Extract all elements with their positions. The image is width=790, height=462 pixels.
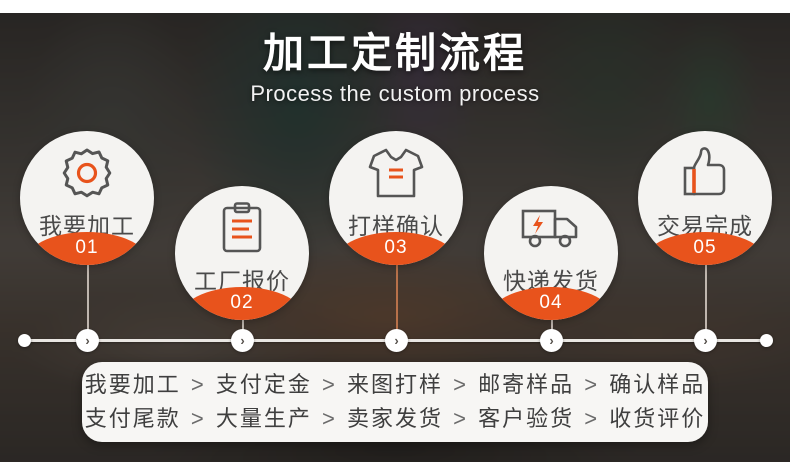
flow-separator: > (582, 372, 601, 397)
flow-item: 邮寄样品 (478, 372, 574, 397)
timeline-arrow-4: › (540, 329, 563, 352)
timeline-arrow-2: › (231, 329, 254, 352)
flow-summary-box: 我要加工 > 支付定金 > 来图打样 > 邮寄样品 > 确认样品 支付尾款 > … (82, 362, 708, 442)
flow-separator: > (451, 372, 470, 397)
flow-item: 确认样品 (609, 372, 705, 397)
timeline-arrow-1: › (76, 329, 99, 352)
stem-step-5 (705, 258, 707, 332)
flow-item: 卖家发货 (347, 406, 443, 431)
flow-separator: > (320, 406, 339, 431)
flow-separator: > (189, 372, 208, 397)
timeline-end-dot (760, 334, 773, 347)
process-banner: 加工定制流程 Process the custom process › › › … (0, 0, 790, 462)
flow-item: 我要加工 (85, 372, 181, 397)
stem-step-3 (396, 258, 398, 332)
flow-row-1: 我要加工 > 支付定金 > 来图打样 > 邮寄样品 > 确认样品 (85, 368, 706, 402)
step-circle-4[interactable]: 快递发货 04 (484, 186, 618, 320)
flow-item: 来图打样 (347, 372, 443, 397)
page-title: 加工定制流程 (0, 30, 790, 77)
top-white-strip (0, 0, 790, 13)
step-circle-5[interactable]: 交易完成 05 (638, 131, 772, 265)
timeline-start-dot (18, 334, 31, 347)
clipboard-icon (217, 200, 267, 256)
flow-separator: > (320, 372, 339, 397)
gear-flower-icon (61, 145, 113, 201)
step-circle-2[interactable]: 工厂报价 02 (175, 186, 309, 320)
flow-item: 支付定金 (216, 372, 312, 397)
flow-separator: > (582, 406, 601, 431)
step-circle-3[interactable]: 打样确认 03 (329, 131, 463, 265)
banner-header: 加工定制流程 Process the custom process (0, 30, 790, 107)
delivery-truck-icon (520, 200, 582, 256)
flow-separator: > (189, 406, 208, 431)
timeline-arrow-5: › (694, 329, 717, 352)
timeline-arrow-3: › (385, 329, 408, 352)
page-subtitle: Process the custom process (0, 81, 790, 107)
flow-item: 客户验货 (478, 406, 574, 431)
step-circle-1[interactable]: 我要加工 01 (20, 131, 154, 265)
tshirt-icon (367, 145, 425, 201)
stem-step-1 (87, 258, 89, 332)
flow-item: 收货评价 (609, 406, 705, 431)
flow-row-2: 支付尾款 > 大量生产 > 卖家发货 > 客户验货 > 收货评价 (85, 402, 706, 436)
thumbs-up-icon (677, 145, 733, 201)
flow-separator: > (451, 406, 470, 431)
flow-item: 大量生产 (216, 406, 312, 431)
flow-item: 支付尾款 (85, 406, 181, 431)
